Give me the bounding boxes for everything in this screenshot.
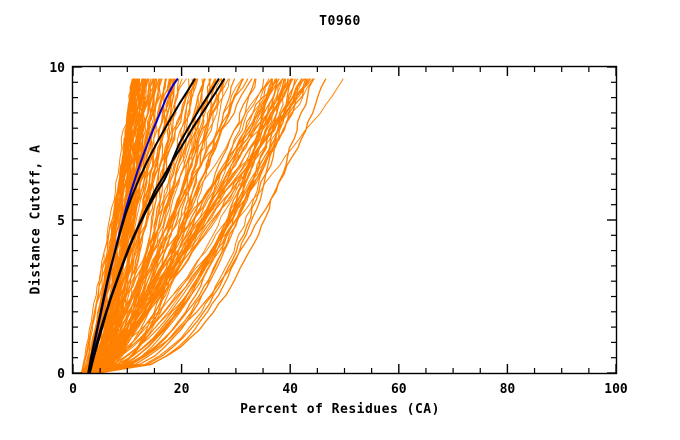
chart-root: T0960 0204060801000510 Percent of Residu… [0, 0, 680, 440]
y-tick-label: 0 [57, 367, 65, 382]
y-axis-label: Distance Cutoff, A [29, 100, 44, 340]
x-tick-label: 100 [604, 382, 628, 397]
ensemble-curves [81, 79, 343, 373]
x-tick-label: 20 [174, 382, 190, 397]
x-tick-label: 0 [69, 382, 77, 397]
x-tick-label: 80 [500, 382, 516, 397]
x-axis-label: Percent of Residues (CA) [0, 402, 680, 417]
x-tick-label: 60 [391, 382, 407, 397]
y-tick-label: 10 [49, 61, 65, 76]
x-tick-label: 40 [282, 382, 298, 397]
plot-canvas: 0204060801000510 [0, 0, 680, 440]
y-tick-label: 5 [57, 214, 65, 229]
